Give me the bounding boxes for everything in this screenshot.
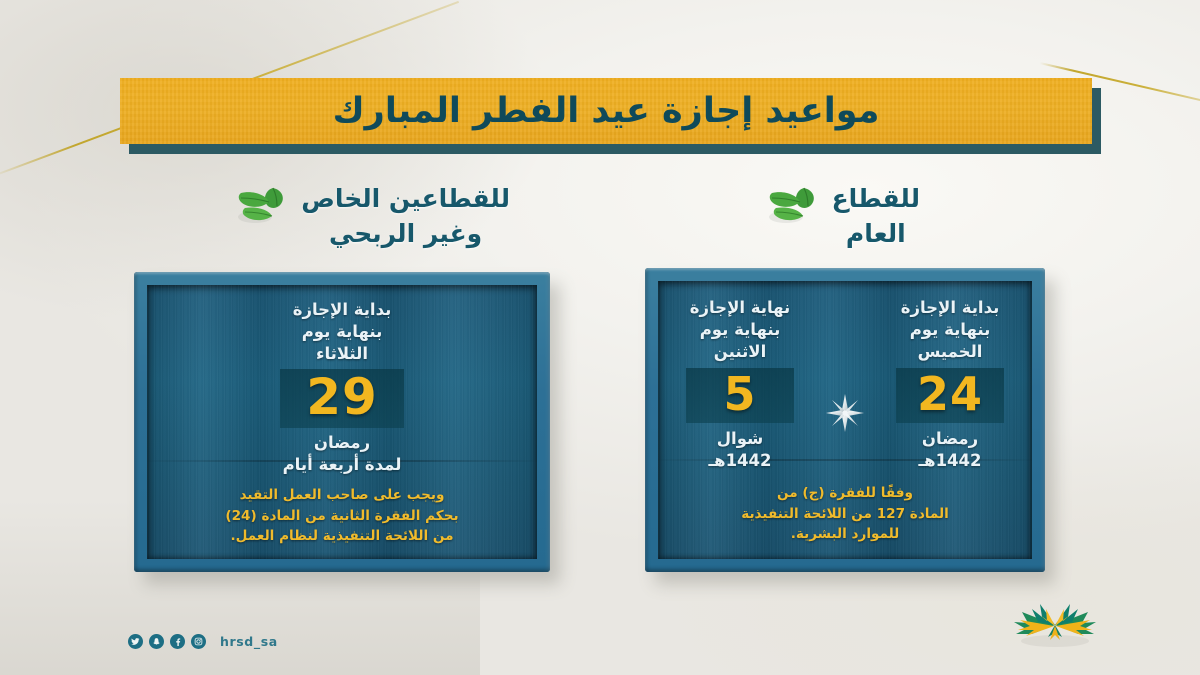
section-header-public: للقطاع العام — [764, 182, 920, 251]
footer-social-bar: hrsd_sa — [128, 634, 278, 649]
vision-2030-palm-logo — [1002, 595, 1108, 653]
public-end-month: شوال 1442هـ — [708, 428, 771, 473]
public-start-number-plate: 24 — [896, 368, 1004, 422]
public-start-number: 24 — [917, 370, 983, 418]
title-banner-plate: مواعيد إجازة عيد الفطر المبارك — [120, 78, 1092, 144]
public-card-note: وفقًا للفقرة (ج) من المادة 127 من اللائح… — [658, 483, 1032, 545]
instagram-icon[interactable] — [191, 634, 206, 649]
leaf-sprig-icon — [764, 184, 822, 228]
public-end-label: نهاية الإجازة بنهاية يوم الاثنين — [690, 297, 791, 362]
public-end-number-plate: 5 — [686, 368, 794, 422]
public-sector-card: بداية الإجازة بنهاية يوم الخميس 24 رمضان… — [645, 268, 1045, 572]
private-start-month: رمضان لمدة أربعة أيام — [283, 432, 402, 477]
public-start-month: رمضان 1442هـ — [918, 428, 981, 473]
title-banner: مواعيد إجازة عيد الفطر المبارك — [120, 78, 1092, 144]
public-card-inner: بداية الإجازة بنهاية يوم الخميس 24 رمضان… — [658, 281, 1032, 559]
leaf-sprig-icon — [233, 184, 291, 228]
facebook-icon[interactable] — [170, 634, 185, 649]
private-card-note: ويجب على صاحب العمل التقيد بحكم الفقرة ا… — [147, 485, 537, 547]
private-sector-card: بداية الإجازة بنهاية يوم الثلاثاء 29 رمض… — [134, 272, 550, 572]
section-header-public-label: للقطاع العام — [832, 182, 920, 251]
private-card-inner: بداية الإجازة بنهاية يوم الثلاثاء 29 رمض… — [147, 285, 537, 559]
public-note-wrap: وفقًا للفقرة (ج) من المادة 127 من اللائح… — [658, 483, 1032, 559]
public-card-separator — [822, 393, 868, 433]
public-card-end-block: بداية الإجازة بنهاية يوم الخميس 24 رمضان… — [868, 297, 1032, 472]
private-card-start-block: بداية الإجازة بنهاية يوم الثلاثاء 29 رمض… — [147, 285, 537, 476]
twitter-icon[interactable] — [128, 634, 143, 649]
page-title: مواعيد إجازة عيد الفطر المبارك — [333, 91, 880, 131]
private-start-label: بداية الإجازة بنهاية يوم الثلاثاء — [293, 299, 392, 364]
section-header-private-label: للقطاعين الخاص وغير الربحي — [301, 182, 510, 251]
private-note-wrap: ويجب على صاحب العمل التقيد بحكم الفقرة ا… — [147, 485, 537, 559]
social-handle: hrsd_sa — [220, 634, 278, 649]
public-card-start-block: نهاية الإجازة بنهاية يوم الاثنين 5 شوال … — [658, 297, 822, 472]
public-start-label: بداية الإجازة بنهاية يوم الخميس — [901, 297, 1000, 362]
private-start-number: 29 — [306, 371, 378, 424]
public-end-number: 5 — [724, 370, 757, 418]
snapchat-icon[interactable] — [149, 634, 164, 649]
public-card-columns: بداية الإجازة بنهاية يوم الخميس 24 رمضان… — [658, 281, 1032, 472]
section-header-private: للقطاعين الخاص وغير الربحي — [233, 182, 510, 251]
eight-point-star-icon — [825, 393, 865, 433]
private-start-number-plate: 29 — [280, 369, 404, 428]
